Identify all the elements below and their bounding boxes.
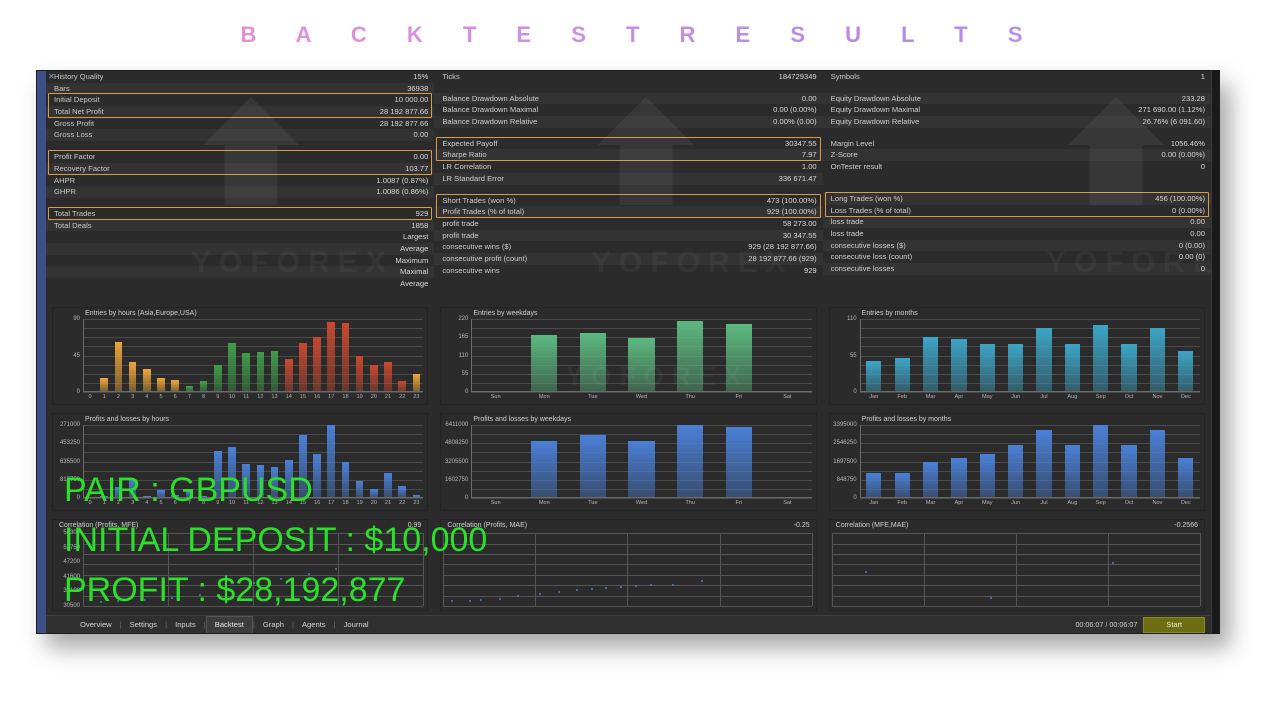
y-axis-line [860, 319, 861, 392]
chart-title: Profits and losses by hours [85, 416, 169, 423]
bar-slot[interactable] [395, 319, 409, 392]
chart-cell-7: Correlation (Profits, MAE)-0.25 [434, 515, 822, 615]
bar-slot[interactable] [367, 425, 381, 498]
bar-slot[interactable] [714, 319, 763, 392]
bar-slot[interactable] [353, 319, 367, 392]
bar-slot[interactable] [310, 319, 324, 392]
bar-slot[interactable] [860, 425, 888, 498]
bar [242, 353, 250, 392]
stats-spacer [46, 141, 434, 151]
bar [628, 441, 654, 498]
bar-slot[interactable] [1058, 425, 1086, 498]
stats-row[interactable]: Long Trades (won %)456 (100.00%) [823, 193, 1211, 205]
stats-row[interactable]: Ticks184729349 [434, 71, 822, 83]
bar-slot[interactable] [367, 319, 381, 392]
chart-entries-by-months[interactable]: Entries by months110550JanFebMarAprMayJu… [829, 307, 1205, 405]
stats-row[interactable]: Total Trades929 [46, 208, 434, 220]
stats-row[interactable]: Sharpe Ratio7.97 [434, 149, 822, 161]
stats-row[interactable]: Total Net Profit28 192 877.66 [46, 106, 434, 118]
x-axis-tick: 0 [83, 392, 97, 404]
stats-row[interactable]: consecutive profit (count)28 192 877.66 … [434, 253, 822, 265]
stats-row-label: Long Trades (won %) [831, 193, 903, 205]
bar [980, 454, 995, 498]
stats-row-value: 7.97 [802, 149, 817, 161]
x-axis-tick: Sun [471, 392, 520, 404]
chart-title: Entries by months [862, 310, 918, 317]
bar [980, 344, 995, 392]
stats-row-label: Balance Drawdown Maximal [442, 104, 538, 116]
chart-title: Profits and losses by weekdays [473, 416, 571, 423]
bar-slot[interactable] [714, 425, 763, 498]
bottom-tabbar: Overview|Settings|Inputs|Backtest|Graph|… [46, 615, 1211, 633]
bar-series [860, 319, 1200, 392]
x-axis-tick: Sun [471, 498, 520, 510]
tab-settings[interactable]: Settings [122, 617, 165, 633]
tab-inputs[interactable]: Inputs [167, 617, 204, 633]
y-axis-tick: 45 [73, 353, 80, 359]
y-axis-tick: 0 [77, 389, 80, 395]
stats-row-value: 271 690.00 (1.12%) [1138, 104, 1205, 116]
chart-plot-area: 110550 [860, 319, 1200, 392]
x-axis-tick: Wed [617, 498, 666, 510]
stats-row-value: 0 (0.00%) [1172, 205, 1205, 217]
bar-slot[interactable] [471, 425, 520, 498]
bar-slot[interactable] [111, 319, 125, 392]
x-axis-tick: Mon [520, 498, 569, 510]
bar-slot[interactable] [126, 319, 140, 392]
stats-row[interactable]: loss trade0.00 [823, 228, 1211, 240]
stats-row[interactable]: Profit Trades (% of total)929 (100.00%) [434, 206, 822, 218]
chart-entries-by-weekdays[interactable]: Entries by weekdays220165110550SunMonTue… [440, 307, 816, 405]
stats-row[interactable]: Margin Level1056.46% [823, 138, 1211, 150]
bar [115, 342, 123, 392]
bar [580, 435, 606, 498]
bar-series [471, 319, 811, 392]
stats-row[interactable]: Maximal [46, 266, 434, 278]
bar-slot[interactable] [1001, 425, 1029, 498]
bar-slot[interactable] [154, 319, 168, 392]
stats-spacer [434, 83, 822, 93]
x-axis-labels: JanFebMarAprMayJunJulAugSepOctNovDec [860, 498, 1200, 510]
x-axis-tick: Jun [1001, 392, 1029, 404]
scatter-point [701, 580, 703, 582]
bar-slot[interactable] [763, 319, 812, 392]
stats-row-value: Maximal [400, 266, 428, 278]
overlay-profit-text: PROFIT : $28,192,877 [64, 571, 405, 610]
bar-slot[interactable] [520, 319, 569, 392]
stats-row[interactable]: consecutive loss (count)0.00 (0) [823, 251, 1211, 263]
bar [143, 369, 151, 392]
stats-row-value: 26.76% (6 091.60) [1143, 116, 1205, 128]
chart-correlation-profits-mae[interactable]: Correlation (Profits, MAE)-0.25 [440, 519, 816, 611]
stats-row[interactable]: GHPR1.0086 (0.86%) [46, 186, 434, 198]
stats-row[interactable]: Recovery Factor103.77 [46, 163, 434, 175]
bar-slot[interactable] [916, 319, 944, 392]
x-axis-tick: 18 [338, 392, 352, 404]
x-axis-tick: 15 [296, 392, 310, 404]
stats-row-label: Z-Score [831, 149, 858, 161]
stats-row[interactable]: OnTester result0 [823, 161, 1211, 173]
bar [677, 321, 703, 392]
stats-row-value: 0.00 [414, 129, 429, 141]
x-axis-tick: Thu [666, 498, 715, 510]
bar-slot[interactable] [888, 319, 916, 392]
x-axis-labels: JanFebMarAprMayJunJulAugSepOctNovDec [860, 392, 1200, 404]
bar-slot[interactable] [1143, 425, 1171, 498]
bar-slot[interactable] [569, 425, 618, 498]
stats-row-value: 36938 [407, 83, 428, 95]
bar-slot[interactable] [267, 319, 281, 392]
strategy-tester-window: Strategy Tester ✕ YOFOREX YOFOREX YOFORE… [36, 70, 1220, 634]
bar [342, 323, 350, 392]
bar-slot[interactable] [409, 319, 423, 392]
bar-slot[interactable] [1143, 319, 1171, 392]
stats-row-label: Gross Profit [54, 118, 94, 130]
bar-slot[interactable] [296, 319, 310, 392]
start-button[interactable]: Start [1143, 617, 1205, 633]
scatter-point [591, 588, 593, 590]
stats-row-label: Profit Factor [54, 151, 95, 163]
x-axis-tick: Dec [1172, 498, 1200, 510]
gridline-vertical [924, 533, 925, 606]
x-axis-tick: 17 [324, 498, 338, 510]
bar-slot[interactable] [1030, 425, 1058, 498]
strategy-tester-rail[interactable]: Strategy Tester [37, 71, 46, 633]
stats-row[interactable]: Profit Factor0.00 [46, 151, 434, 163]
x-axis-tick: Oct [1115, 498, 1143, 510]
stats-row[interactable]: profit trade58 273.00 [434, 218, 822, 230]
x-axis-tick: Nov [1143, 498, 1171, 510]
stats-row[interactable]: Equity Drawdown Maximal271 690.00 (1.12%… [823, 104, 1211, 116]
stats-row-label: Initial Deposit [54, 94, 100, 106]
x-axis-tick: Jun [1001, 498, 1029, 510]
bar-slot[interactable] [1001, 319, 1029, 392]
stats-row-label: Expected Payoff [442, 138, 497, 150]
statistics-panel: History Quality15%Bars36938Initial Depos… [46, 71, 1211, 301]
stats-row-value: 0.00 (0.00%) [773, 104, 816, 116]
stats-row-label: Balance Drawdown Absolute [442, 93, 539, 105]
bar-slot[interactable] [973, 425, 1001, 498]
bar-slot[interactable] [888, 425, 916, 498]
x-axis-tick: Jan [860, 498, 888, 510]
stats-row[interactable]: profit trade30 347.55 [434, 230, 822, 242]
bar-slot[interactable] [1030, 319, 1058, 392]
x-axis-tick: 18 [338, 498, 352, 510]
y-axis-tick: 1602750 [445, 477, 468, 483]
stats-row[interactable]: Expected Payoff30347.55 [434, 138, 822, 150]
bar-slot[interactable] [916, 425, 944, 498]
stats-row-label: GHPR [54, 186, 76, 198]
scatter-point [865, 571, 867, 573]
x-axis-tick: 19 [353, 498, 367, 510]
stats-row[interactable]: Total Deals1858 [46, 220, 434, 232]
stats-row[interactable]: consecutive wins929 [434, 265, 822, 277]
x-axis-tick: Feb [888, 498, 916, 510]
bar-slot[interactable] [471, 319, 520, 392]
stats-row[interactable]: Equity Drawdown Absolute233.28 [823, 93, 1211, 105]
x-axis-tick: 6 [168, 392, 182, 404]
stats-row-value: 456 (100.00%) [1155, 193, 1205, 205]
bar [327, 425, 335, 498]
stats-row[interactable]: Equity Drawdown Relative26.76% (6 091.60… [823, 116, 1211, 128]
bar-slot[interactable] [239, 319, 253, 392]
x-axis-tick: Mon [520, 392, 569, 404]
chart-profits-losses-by-months[interactable]: Profits and losses by months339500025462… [829, 413, 1205, 511]
chart-title: Entries by hours (Asia,Europe,USA) [85, 310, 197, 317]
stats-row-value: 10 000.00 [395, 94, 429, 106]
bar-slot[interactable] [338, 319, 352, 392]
bar [313, 337, 321, 392]
bar-slot[interactable] [211, 319, 225, 392]
stats-row[interactable]: consecutive wins ($)929 (28 192 877.66) [434, 241, 822, 253]
bar-slot[interactable] [353, 425, 367, 498]
bar-slot[interactable] [973, 319, 1001, 392]
bar [271, 351, 279, 392]
stats-row[interactable]: Z-Score0.00 (0.00%) [823, 149, 1211, 161]
stats-row[interactable]: AHPR1.0087 (0.87%) [46, 175, 434, 187]
stats-row-value: 28 192 877.66 [380, 118, 429, 130]
bar [951, 458, 966, 498]
bar [327, 322, 335, 392]
bar-slot[interactable] [381, 425, 395, 498]
y-axis-line [471, 319, 472, 392]
bar-slot[interactable] [253, 319, 267, 392]
stats-row[interactable]: Average [46, 278, 434, 290]
stats-spacer [434, 128, 822, 138]
stats-row-value: 1056.46% [1171, 138, 1205, 150]
stats-row-value: 30 347.55 [783, 230, 817, 242]
x-axis-tick: May [973, 392, 1001, 404]
bar-slot[interactable] [83, 319, 97, 392]
stats-row-label: consecutive profit (count) [442, 253, 527, 265]
bar-slot[interactable] [1172, 425, 1200, 498]
bar-slot[interactable] [1115, 319, 1143, 392]
stats-row-label: consecutive losses ($) [831, 240, 906, 252]
x-axis-tick: Aug [1058, 498, 1086, 510]
x-axis-labels: SunMonTueWedThuFriSat [471, 498, 811, 510]
bar [214, 365, 222, 392]
bar-slot[interactable] [666, 425, 715, 498]
stats-row-value: 184729349 [779, 71, 817, 83]
stats-row-value: 103.77 [405, 163, 428, 175]
chart-entries-by-hours[interactable]: Entries by hours (Asia,Europe,USA)904500… [52, 307, 428, 405]
bar-slot[interactable] [1087, 319, 1115, 392]
bar [157, 378, 165, 392]
bar-slot[interactable] [763, 425, 812, 498]
bar [1036, 430, 1051, 498]
chart-profits-losses-by-weekdays[interactable]: Profits and losses by weekdays6411000480… [440, 413, 816, 511]
bar-slot[interactable] [1087, 425, 1115, 498]
stats-row[interactable]: loss trade0.00 [823, 216, 1211, 228]
bar-slot[interactable] [282, 319, 296, 392]
bar-slot[interactable] [860, 319, 888, 392]
stats-row-label: Bars [54, 83, 70, 95]
tab-overview[interactable]: Overview [72, 617, 120, 633]
stats-row-value: 1.00 [802, 161, 817, 173]
stats-row-label: consecutive losses [831, 263, 895, 275]
bar [1008, 445, 1023, 498]
x-axis-tick: May [973, 498, 1001, 510]
stats-row[interactable]: History Quality15% [46, 71, 434, 83]
x-axis-tick: Tue [569, 498, 618, 510]
bar-slot[interactable] [168, 319, 182, 392]
stats-row[interactable]: Balance Drawdown Relative0.00% (0.00) [434, 116, 822, 128]
stats-row[interactable]: LR Correlation1.00 [434, 161, 822, 173]
stats-row[interactable]: Loss Trades (% of total)0 (0.00%) [823, 205, 1211, 217]
bar-slot[interactable] [182, 319, 196, 392]
y-axis-tick: 2546250 [833, 440, 856, 446]
y-axis-tick: 4808250 [445, 440, 468, 446]
x-axis-tick: Wed [617, 392, 666, 404]
stats-column-1: History Quality15%Bars36938Initial Depos… [46, 71, 434, 301]
bar [726, 427, 752, 498]
y-axis-tick: 0 [853, 389, 856, 395]
x-axis-tick: 21 [381, 498, 395, 510]
stats-spacer [823, 173, 1211, 183]
bar-slot[interactable] [197, 319, 211, 392]
bar-slot[interactable] [617, 319, 666, 392]
scatter-point [517, 595, 519, 597]
gridline-horizontal [832, 606, 1200, 607]
stats-row[interactable]: Initial Deposit10 000.00 [46, 94, 434, 106]
stats-row[interactable]: consecutive losses ($)0 (0.00) [823, 240, 1211, 252]
stats-row-label: Total Trades [54, 208, 95, 220]
bar [228, 343, 236, 392]
stats-row-value: 233.28 [1182, 93, 1205, 105]
x-axis-tick: Jan [860, 392, 888, 404]
stats-row-value: 0 (0.00) [1179, 240, 1205, 252]
bar-slot[interactable] [1115, 425, 1143, 498]
stats-row[interactable]: consecutive losses0 [823, 263, 1211, 275]
y-axis-tick: 110 [847, 316, 857, 322]
tab-journal[interactable]: Journal [336, 617, 377, 633]
stats-row[interactable]: Balance Drawdown Maximal0.00 (0.00%) [434, 104, 822, 116]
bar-slot[interactable] [617, 425, 666, 498]
bar-slot[interactable] [324, 425, 338, 498]
stats-spacer [823, 183, 1211, 193]
chart-correlation-mfe-mae[interactable]: Correlation (MFE,MAE)-0.2566 [829, 519, 1205, 611]
correlation-value: -0.2566 [1174, 522, 1198, 529]
bar-slot[interactable] [409, 425, 423, 498]
bar [370, 365, 378, 392]
chart-wrapper: Entries by months110550JanFebMarAprMayJu… [826, 305, 1208, 407]
bar [1121, 344, 1136, 392]
tab-agents[interactable]: Agents [294, 617, 334, 633]
chart-plot-area [443, 533, 811, 606]
bar-slot[interactable] [569, 319, 618, 392]
stats-row-label: History Quality [54, 71, 103, 83]
stats-row[interactable]: Gross Profit28 192 877.66 [46, 118, 434, 130]
stats-row-value: 929 [804, 265, 817, 277]
stats-row-label: Loss Trades (% of total) [831, 205, 911, 217]
bar [1065, 445, 1080, 498]
stats-row[interactable]: LR Standard Error336 671.47 [434, 173, 822, 185]
stats-row[interactable]: Symbols1 [823, 71, 1211, 83]
x-axis-tick: 9 [211, 392, 225, 404]
stats-row-value: 30347.55 [785, 138, 817, 150]
bar-slot[interactable] [945, 425, 973, 498]
x-axis-tick: Aug [1058, 392, 1086, 404]
bar-slot[interactable] [338, 425, 352, 498]
bar [951, 339, 966, 392]
bar [313, 454, 321, 499]
stats-row-value: 0 [1201, 161, 1205, 173]
y-axis-tick: 271000 [60, 422, 80, 428]
stats-row-value: 929 (28 192 877.66) [748, 241, 816, 253]
bar-slot[interactable] [395, 425, 409, 498]
bar [1093, 425, 1108, 498]
stats-row[interactable]: Average [46, 243, 434, 255]
chart-plot-area: 220165110550 [471, 319, 811, 392]
scatter-point [499, 598, 501, 600]
bar-slot[interactable] [1058, 319, 1086, 392]
y-axis-tick: 453250 [60, 440, 80, 446]
stats-row-label: Equity Drawdown Relative [831, 116, 920, 128]
tab-backtest[interactable]: Backtest [206, 616, 253, 633]
chart-cell-0: Entries by hours (Asia,Europe,USA)904500… [46, 303, 434, 409]
x-axis-tick: 10 [225, 392, 239, 404]
stats-row[interactable]: Largest [46, 231, 434, 243]
stats-row[interactable]: Balance Drawdown Absolute0.00 [434, 93, 822, 105]
gridline-vertical [720, 533, 721, 606]
bar-slot[interactable] [1172, 319, 1200, 392]
gridline-vertical [535, 533, 536, 606]
x-axis-tick: Feb [888, 392, 916, 404]
x-axis-tick: 20 [367, 498, 381, 510]
bar [1065, 344, 1080, 392]
stats-row-label: Sharpe Ratio [442, 149, 486, 161]
stats-row-label: consecutive loss (count) [831, 251, 912, 263]
x-axis-tick: Mar [916, 498, 944, 510]
bar-slot[interactable] [666, 319, 715, 392]
x-axis-tick: 12 [253, 392, 267, 404]
bar-slot[interactable] [381, 319, 395, 392]
gridline-vertical [627, 533, 628, 606]
bar-slot[interactable] [324, 319, 338, 392]
x-axis-tick: Thu [666, 392, 715, 404]
x-axis-tick: 19 [353, 392, 367, 404]
stats-row[interactable]: Short Trades (won %)473 (100.00%) [434, 195, 822, 207]
bar-slot[interactable] [140, 319, 154, 392]
bar-series [471, 425, 811, 498]
bar-slot[interactable] [225, 319, 239, 392]
stats-row[interactable]: Maximum [46, 255, 434, 267]
bar [257, 352, 265, 392]
bar-slot[interactable] [945, 319, 973, 392]
bar-slot[interactable] [520, 425, 569, 498]
bar-slot[interactable] [97, 319, 111, 392]
stats-row[interactable]: Bars36938 [46, 83, 434, 95]
stats-row-value: 0.00 (0) [1179, 251, 1205, 263]
y-axis-tick: 0 [465, 495, 468, 501]
y-axis-tick: 848750 [837, 477, 857, 483]
x-axis-tick: 7 [182, 392, 196, 404]
close-icon[interactable]: ✕ [47, 72, 56, 82]
screenshot-root: B A C K T E S T R E S U L T S Strategy T… [0, 0, 1280, 720]
y-axis-tick: 635500 [60, 459, 80, 465]
stats-row-value: 0 [1201, 263, 1205, 275]
stats-row-value: 336 671.47 [779, 173, 817, 185]
x-axis-tick: 16 [310, 392, 324, 404]
x-axis-tick: 11 [239, 392, 253, 404]
bar [413, 374, 421, 392]
stats-row-label: Total Net Profit [54, 106, 104, 118]
stats-row-value: Maximum [395, 255, 428, 267]
y-axis-tick: 165 [458, 334, 468, 340]
window-scrollbar[interactable] [1211, 71, 1219, 633]
stats-row[interactable]: Gross Loss0.00 [46, 129, 434, 141]
tab-graph[interactable]: Graph [255, 617, 292, 633]
